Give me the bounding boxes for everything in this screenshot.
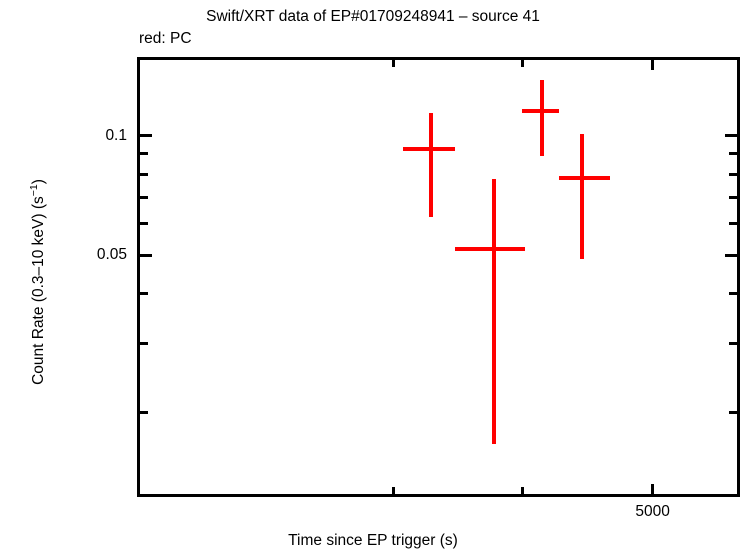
y-tick-label-0.1: 0.1: [0, 127, 127, 145]
y-tick-right-3: [729, 173, 737, 176]
y-tick-right-8: [729, 292, 737, 295]
plot-inner: [140, 60, 737, 494]
error-bar-horizontal: [403, 147, 456, 151]
y-tick-left-8: [140, 292, 148, 295]
x-tick-top-2: [651, 60, 654, 70]
y-axis-label: Count Rate (0.3–10 keV) (s−1): [30, 52, 48, 512]
error-bar-vertical: [492, 179, 496, 444]
y-axis-label-text: Count Rate (0.3–10 keV) (s−1): [30, 179, 47, 385]
y-tick-right-1: [729, 222, 737, 225]
y-tick-right-5: [725, 134, 737, 137]
y-tick-left-7: [140, 342, 148, 345]
x-tick-bot-2: [651, 484, 654, 494]
x-axis-label: Time since EP trigger (s): [0, 532, 746, 550]
error-bar-horizontal: [522, 109, 560, 113]
y-tick-left-5: [140, 134, 152, 137]
x-tick-bot-1: [521, 487, 524, 494]
y-tick-left-4: [140, 152, 148, 155]
chart-subtitle-legend: red: PC: [139, 30, 192, 48]
x-tick-bot-0: [392, 487, 395, 494]
y-tick-right-4: [729, 152, 737, 155]
error-bar-vertical: [580, 134, 584, 259]
y-tick-left-6: [140, 411, 148, 414]
error-bar-horizontal: [559, 176, 610, 180]
x-tick-top-0: [392, 60, 395, 67]
chart-title: Swift/XRT data of EP#01709248941 – sourc…: [0, 8, 746, 26]
y-tick-right-7: [729, 342, 737, 345]
y-tick-right-2: [729, 196, 737, 199]
x-tick-label-5000: 5000: [635, 503, 669, 521]
y-tick-left-3: [140, 173, 148, 176]
x-tick-top-1: [521, 60, 524, 67]
y-tick-left-2: [140, 196, 148, 199]
y-tick-right-0: [725, 254, 737, 257]
error-bar-vertical: [540, 80, 544, 155]
y-tick-left-1: [140, 222, 148, 225]
error-bar-horizontal: [455, 247, 526, 251]
error-bar-vertical: [429, 113, 433, 217]
y-tick-left-0: [140, 254, 152, 257]
figure-canvas: Swift/XRT data of EP#01709248941 – sourc…: [0, 0, 746, 558]
y-tick-label-0.05: 0.05: [0, 246, 127, 264]
y-tick-right-6: [729, 411, 737, 414]
plot-area: [137, 57, 740, 497]
